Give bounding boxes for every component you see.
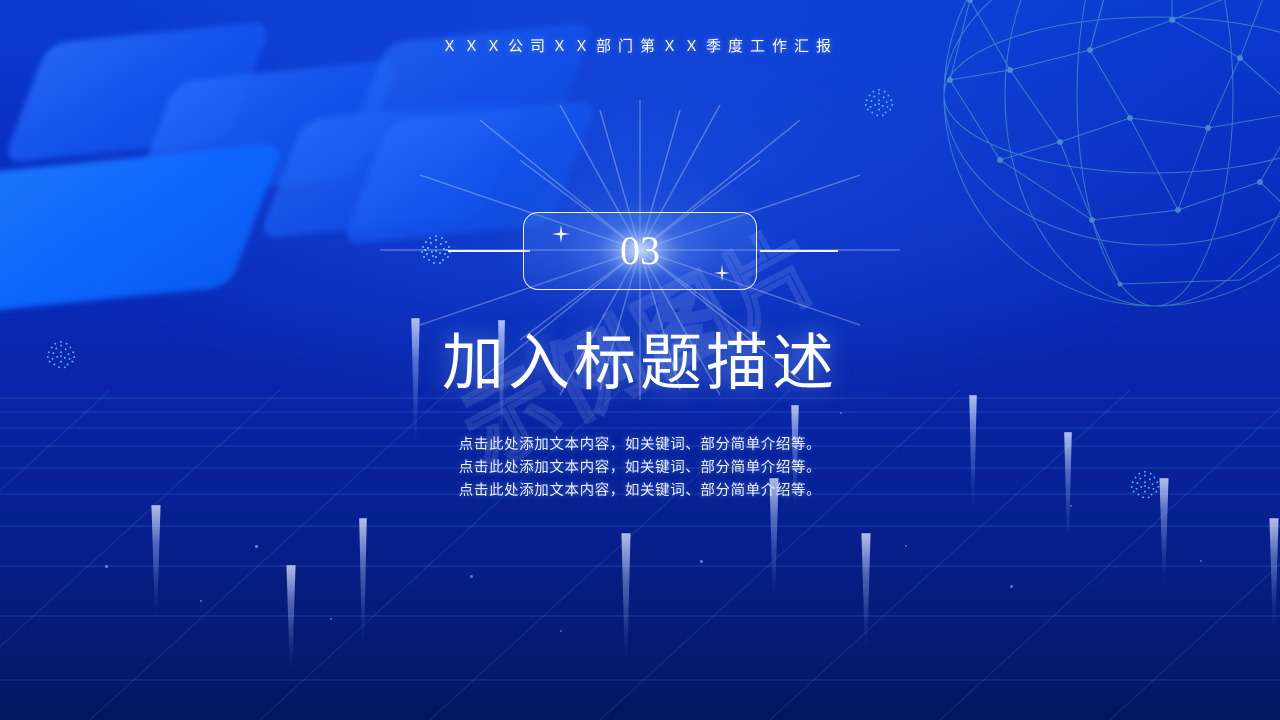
- sparkle-dot: [1200, 560, 1202, 562]
- sparkle-dot: [905, 545, 907, 547]
- sparkle-dot: [700, 560, 703, 563]
- sparkle-dot: [330, 618, 332, 620]
- sparkle-dot: [560, 630, 562, 632]
- section-number-badge[interactable]: 03: [523, 212, 757, 290]
- section-number-label: 03: [620, 231, 660, 271]
- sparkle-dot: [105, 565, 108, 568]
- sparkle-star-icon: [552, 225, 570, 243]
- section-number-row: 03: [0, 212, 1280, 290]
- light-pillar: [860, 533, 872, 648]
- page-title: ＸＸＸ公司ＸＸ部门第ＸＸ季度工作汇报: [0, 35, 1280, 56]
- body-line: 点击此处添加文本内容，如关键词、部分简单介绍等。: [0, 434, 1280, 457]
- sparkle-dot: [200, 600, 202, 602]
- light-pillar: [358, 518, 368, 648]
- main-title: 加入标题描述: [0, 330, 1280, 398]
- slide-canvas: ＸＸＸ公司ＸＸ部门第ＸＸ季度工作汇报 03 加入标题描述 点击此处添加文本内容，…: [0, 0, 1280, 720]
- light-pillar: [620, 533, 632, 663]
- dotted-globe-icon: [862, 86, 896, 120]
- body-line: 点击此处添加文本内容，如关键词、部分简单介绍等。: [0, 480, 1280, 503]
- light-pillar: [285, 565, 297, 670]
- tile-shape: [130, 59, 400, 201]
- sparkle-dot: [470, 575, 473, 578]
- body-line: 点击此处添加文本内容，如关键词、部分简单介绍等。: [0, 457, 1280, 480]
- light-pillar: [150, 505, 162, 615]
- divider-line-left: [448, 250, 530, 252]
- sparkle-star-icon: [714, 265, 730, 281]
- sparkle-dot: [1010, 585, 1013, 588]
- light-pillar: [1268, 518, 1280, 628]
- body-text-block: 点击此处添加文本内容，如关键词、部分简单介绍等。 点击此处添加文本内容，如关键词…: [0, 434, 1280, 503]
- sparkle-dot: [255, 545, 258, 548]
- sparkle-dot: [840, 412, 842, 414]
- divider-line-right: [760, 250, 838, 252]
- sparkle-dot: [1070, 505, 1072, 507]
